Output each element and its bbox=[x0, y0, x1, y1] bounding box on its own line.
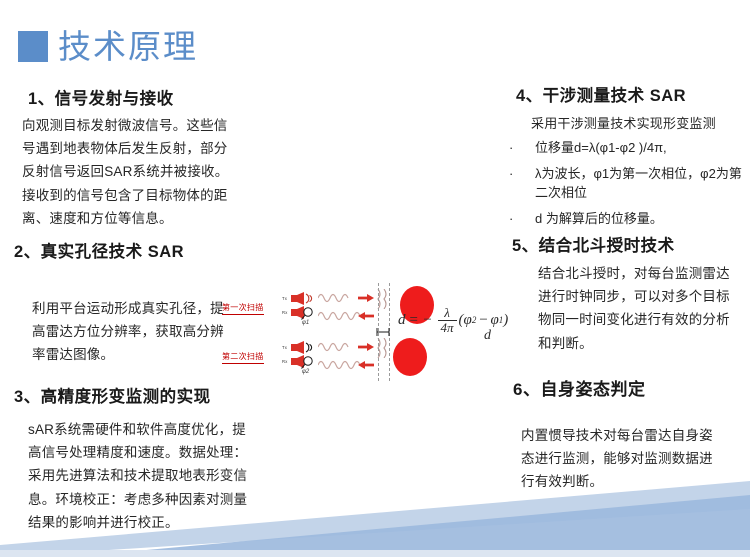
bullet-marker-icon: · bbox=[505, 209, 535, 229]
formula-phi2-sub: 2 bbox=[472, 315, 477, 325]
formula-phi2: φ bbox=[464, 312, 472, 329]
section-1-body: 向观测目标发射微波信号。这些信号遇到地表物体后发生反射，部分反射信号返回SAR系… bbox=[22, 114, 240, 230]
arrow-left-icon-scan2 bbox=[358, 361, 374, 369]
section-1-heading: 1、信号发射与接收 bbox=[28, 85, 174, 109]
section-2-body: 利用平台运动形成真实孔径，提高雷达方位分辨率，获取高分辨率雷达图像。 bbox=[32, 297, 232, 367]
scan-1-label: 第一次扫描 bbox=[222, 302, 264, 315]
bullet-text: d 为解算后的位移量。 bbox=[535, 209, 750, 229]
bottom-decorative-bands bbox=[0, 467, 750, 557]
section-5-heading: 5、结合北斗授时技术 bbox=[512, 232, 675, 256]
bullet-item: · d 为解算后的位移量。 bbox=[505, 209, 750, 229]
formula-denominator: 4π bbox=[438, 321, 457, 335]
phase-1-label: φ1 bbox=[302, 320, 309, 326]
section-6-heading: 6、自身姿态判定 bbox=[513, 375, 645, 400]
section-4-bullets: · 位移量d=λ(φ1-φ2 )/4π, · λ为波长，φ1为第一次相位，φ2为… bbox=[505, 138, 750, 234]
rx-label-scan1: Rx bbox=[282, 310, 288, 315]
formula-numerator: λ bbox=[441, 306, 453, 320]
bullet-item: · λ为波长，φ1为第一次相位，φ2为第二次相位 bbox=[505, 164, 750, 203]
bullet-marker-icon: · bbox=[505, 164, 535, 184]
displacement-marker-icon bbox=[376, 327, 392, 337]
rx-antenna-icon-scan2 bbox=[290, 355, 316, 370]
tx-label-scan1: Tx bbox=[282, 296, 287, 301]
phase-2-label: φ2 bbox=[302, 369, 309, 375]
title-accent-square bbox=[18, 31, 48, 62]
section-4-heading: 4、干涉测量技术 SAR bbox=[516, 82, 686, 106]
arrow-right-icon-scan2 bbox=[358, 343, 374, 351]
formula-paren-close: ) bbox=[503, 312, 508, 329]
tx-label-scan2: Tx bbox=[282, 345, 287, 350]
rx-antenna-icon-scan1 bbox=[290, 306, 316, 321]
tx-antenna-icon-scan1 bbox=[290, 292, 316, 305]
bottom-strip bbox=[0, 550, 750, 557]
formula-equals: = − bbox=[409, 312, 433, 329]
slide-canvas: 技术原理 1、信号发射与接收 向观测目标发射微波信号。这些信号遇到地表物体后发生… bbox=[0, 0, 750, 557]
formula-lhs: d bbox=[398, 312, 406, 329]
bullet-text: λ为波长，φ1为第一次相位，φ2为第二次相位 bbox=[535, 164, 750, 203]
scan-2-label: 第二次扫描 bbox=[222, 351, 264, 364]
bullet-marker-icon: · bbox=[505, 138, 535, 158]
section-4-intro: 采用干涉测量技术实现形变监测 bbox=[531, 113, 750, 135]
target-ellipse-scan2 bbox=[393, 338, 427, 376]
formula-minus: − bbox=[478, 312, 488, 329]
formula-phi1: φ bbox=[490, 312, 498, 329]
displacement-formula: d = − λ 4π ( φ 2 − φ 1 ) bbox=[398, 306, 508, 334]
arrow-right-icon-scan1 bbox=[358, 294, 374, 302]
section-5-body: 结合北斗授时，对每台监测雷达进行时钟同步，可以对多个目标物同一时间变化进行有效的… bbox=[538, 262, 743, 355]
formula-fraction: λ 4π bbox=[438, 306, 457, 334]
tx-antenna-icon-scan2 bbox=[290, 341, 316, 354]
rx-label-scan2: Rx bbox=[282, 359, 288, 364]
page-title: 技术原理 bbox=[18, 30, 198, 63]
arrow-left-icon-scan1 bbox=[358, 312, 374, 320]
section-3-heading: 3、高精度形变监测的实现 bbox=[14, 383, 211, 407]
section-2-heading: 2、真实孔径技术 SAR bbox=[14, 238, 184, 262]
bullet-item: · 位移量d=λ(φ1-φ2 )/4π, bbox=[505, 138, 750, 158]
title-label: 技术原理 bbox=[58, 30, 198, 63]
bullet-text: 位移量d=λ(φ1-φ2 )/4π, bbox=[535, 138, 750, 158]
